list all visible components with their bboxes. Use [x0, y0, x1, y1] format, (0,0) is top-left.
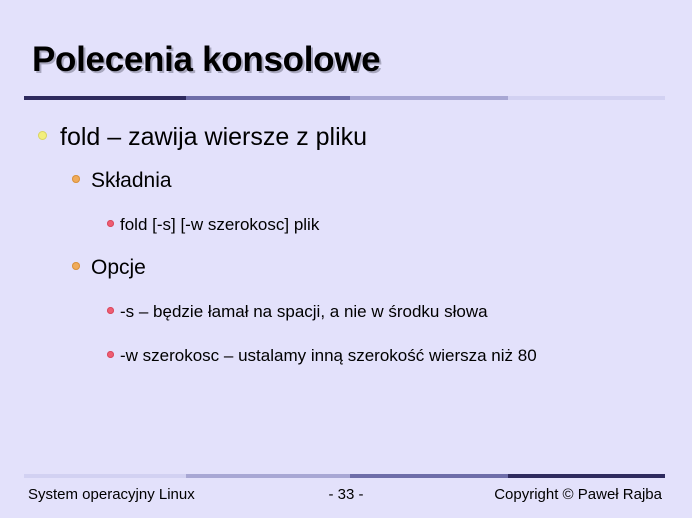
bullet-item-level2: Opcje: [0, 251, 692, 285]
footer-divider-rule: [24, 474, 665, 478]
bullet-text: Opcje: [91, 251, 146, 285]
bullet-item-level2: Składnia: [0, 164, 692, 198]
spacer: [0, 240, 692, 251]
divider-segment-3: [350, 96, 508, 100]
bullet-text: fold – zawija wiersze z pliku: [60, 118, 367, 156]
bullet-text: fold [-s] [-w szerokosc] plik: [120, 209, 319, 240]
bullet-item-level3: -w szerokosc – ustalamy inną szerokość w…: [0, 340, 692, 371]
divider-segment-2: [186, 96, 350, 100]
spacer: [0, 198, 692, 209]
content-bullet-list: fold – zawija wiersze z pliku Składnia f…: [0, 118, 692, 371]
footer-copyright: Copyright © Paweł Rajba: [494, 483, 662, 507]
bullet-item-level3: fold [-s] [-w szerokosc] plik: [0, 209, 692, 240]
divider-segment-1: [24, 96, 186, 100]
title-divider-rule: [24, 96, 665, 100]
divider-segment-2: [186, 474, 350, 478]
divider-segment-1: [24, 474, 186, 478]
bullet-text: Składnia: [91, 164, 172, 198]
page-title: Polecenia konsolowe: [32, 40, 380, 80]
bullet-dot-icon: [72, 262, 80, 270]
divider-segment-4: [508, 474, 665, 478]
bullet-item-level3: -s – będzie łamał na spacji, a nie w śro…: [0, 296, 692, 327]
spacer: [0, 327, 692, 340]
bullet-text: -w szerokosc – ustalamy inną szerokość w…: [120, 340, 537, 371]
bullet-item-level1: fold – zawija wiersze z pliku: [0, 118, 692, 156]
bullet-dot-icon: [72, 175, 80, 183]
slide-footer: System operacyjny Linux - 33 - Copyright…: [0, 483, 692, 507]
bullet-text: -s – będzie łamał na spacji, a nie w śro…: [120, 296, 488, 327]
bullet-dot-icon: [38, 131, 47, 140]
spacer: [0, 285, 692, 296]
bullet-dot-icon: [107, 220, 114, 227]
bullet-dot-icon: [107, 307, 114, 314]
divider-segment-4: [508, 96, 665, 100]
divider-segment-3: [350, 474, 508, 478]
bullet-dot-icon: [107, 351, 114, 358]
spacer: [0, 156, 692, 164]
slide: Polecenia konsolowe fold – zawija wiersz…: [0, 0, 692, 518]
